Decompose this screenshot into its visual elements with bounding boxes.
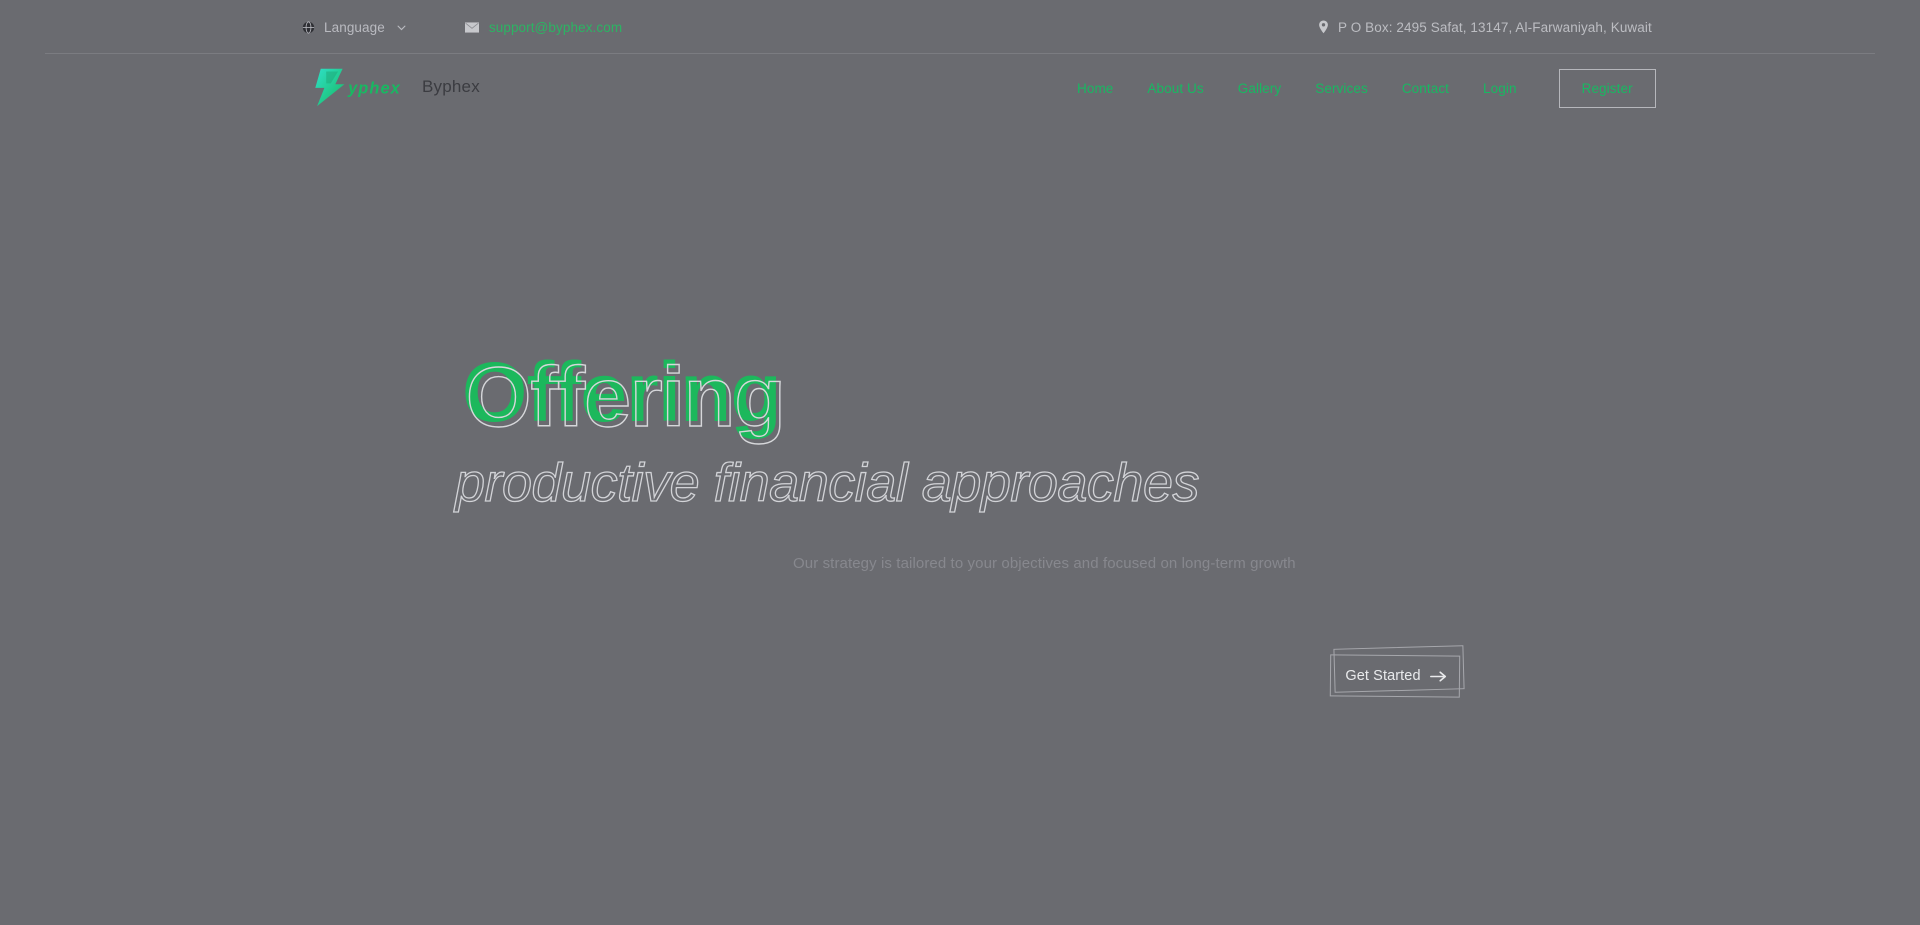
- nav-item-gallery[interactable]: Gallery: [1221, 81, 1298, 96]
- register-button[interactable]: Register: [1559, 69, 1656, 108]
- globe-icon: [302, 21, 315, 34]
- support-email-link[interactable]: support@byphex.com: [465, 20, 622, 35]
- hero-tagline: Our strategy is tailored to your objecti…: [793, 555, 1296, 572]
- language-label: Language: [324, 20, 385, 35]
- arrow-right-icon: [1430, 670, 1447, 683]
- hero-subtitle: productive financial approaches: [455, 452, 1199, 514]
- hero-title: Offering Offering: [462, 344, 781, 440]
- nav-item-contact[interactable]: Contact: [1385, 81, 1466, 96]
- site-header: yphex Byphex Home About Us Gallery Servi…: [0, 54, 1920, 122]
- hero-section: Offering Offering productive financial a…: [0, 122, 1920, 925]
- get-started-label: Get Started: [1345, 668, 1420, 684]
- support-email-text: support@byphex.com: [489, 20, 622, 35]
- top-utility-bar: Language support@byphex.com: [0, 0, 1920, 54]
- get-started-cta: Get Started: [1332, 653, 1468, 699]
- get-started-button[interactable]: Get Started: [1332, 653, 1460, 699]
- nav-item-home[interactable]: Home: [1060, 81, 1130, 96]
- svg-text:yphex: yphex: [347, 79, 401, 97]
- topbar-left-group: Language support@byphex.com: [302, 0, 622, 54]
- brand-logo[interactable]: yphex Byphex: [308, 66, 480, 108]
- hero-title-stroke: Offering: [466, 349, 785, 445]
- location-pin-icon: [1318, 20, 1329, 34]
- envelope-icon: [465, 22, 479, 33]
- language-selector[interactable]: Language: [302, 20, 407, 35]
- address-text: P O Box: 2495 Safat, 13147, Al-Farwaniya…: [1338, 20, 1652, 35]
- main-navigation: Home About Us Gallery Services Contact L…: [1060, 54, 1656, 122]
- landing-page: Language support@byphex.com: [0, 0, 1920, 925]
- nav-item-about-us[interactable]: About Us: [1130, 81, 1220, 96]
- chevron-down-icon[interactable]: [394, 22, 407, 33]
- brand-name-text: Byphex: [422, 77, 480, 97]
- nav-item-login[interactable]: Login: [1466, 81, 1534, 96]
- topbar-address-group: P O Box: 2495 Safat, 13147, Al-Farwaniya…: [1318, 0, 1652, 54]
- nav-item-services[interactable]: Services: [1298, 81, 1385, 96]
- byphex-logo-icon: yphex: [308, 66, 410, 108]
